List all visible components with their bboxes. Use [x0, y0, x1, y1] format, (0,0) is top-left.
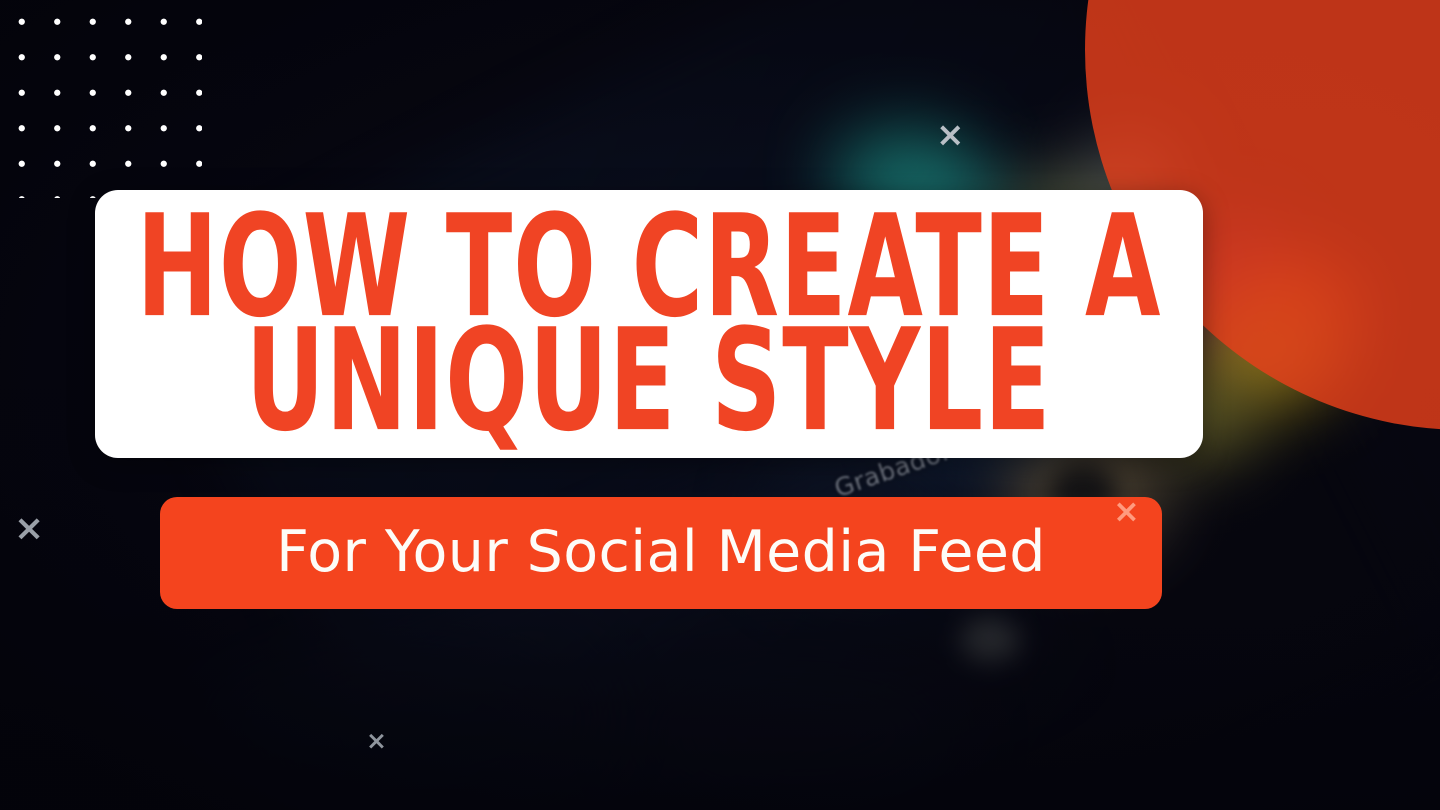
- subtitle-bar: For Your Social Media Feed: [160, 497, 1162, 609]
- x-mark-on-subtitle: ×: [1113, 495, 1140, 527]
- x-mark-bottom: ×: [366, 728, 387, 753]
- poster-canvas: Grabador × × × HOW TO CREATE A UNIQUE ST…: [0, 0, 1440, 810]
- subtitle-text: For Your Social Media Feed: [276, 524, 1046, 581]
- dot-grid-pattern: [2, 2, 202, 198]
- x-mark-left: ×: [14, 511, 44, 547]
- page-title-line-2: UNIQUE STYLE: [246, 319, 1052, 443]
- x-mark-top-right: ×: [936, 118, 965, 152]
- title-card: HOW TO CREATE A UNIQUE STYLE: [95, 190, 1203, 458]
